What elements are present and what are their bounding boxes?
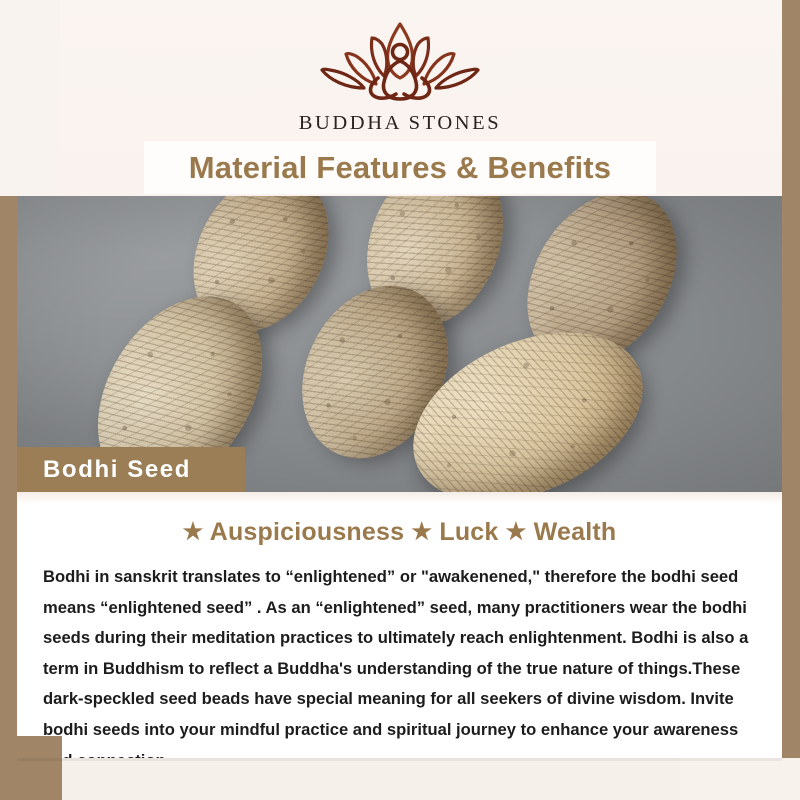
star-icon: ★: [506, 518, 527, 545]
frame-left-border: [0, 196, 17, 776]
brand-name: BUDDHA STONES: [299, 112, 502, 135]
frame-right-border: [782, 0, 800, 768]
star-icon: ★: [183, 518, 204, 545]
lotus-meditation-figure-icon: [312, 16, 488, 108]
star-icon: ★: [411, 518, 432, 545]
poster-root: BUDDHA STONES Material Features & Benefi…: [0, 0, 800, 800]
product-name-bar: Bodhi Seed: [17, 447, 245, 492]
benefits-headline: ★ Auspiciousness ★ Luck ★ Wealth: [17, 518, 782, 547]
panel-top-fade: [17, 492, 782, 504]
brand-logo: BUDDHA STONES: [0, 16, 800, 135]
title-banner: Material Features & Benefits: [144, 141, 656, 194]
description-panel: ★ Auspiciousness ★ Luck ★ Wealth Bodhi i…: [17, 492, 782, 758]
product-name-label: Bodhi Seed: [17, 456, 191, 484]
frame-bottom-left-corner: [0, 736, 62, 800]
benefit-item-auspiciousness: Auspiciousness: [210, 518, 405, 546]
page-title: Material Features & Benefits: [189, 150, 612, 186]
description-text: Bodhi in sanskrit translates to “enlight…: [43, 562, 756, 776]
panel-bottom-shadow: [17, 758, 782, 761]
frame-bottom-right-cream: [680, 758, 800, 800]
benefit-item-luck: Luck: [439, 518, 498, 546]
benefit-item-wealth: Wealth: [534, 518, 617, 546]
